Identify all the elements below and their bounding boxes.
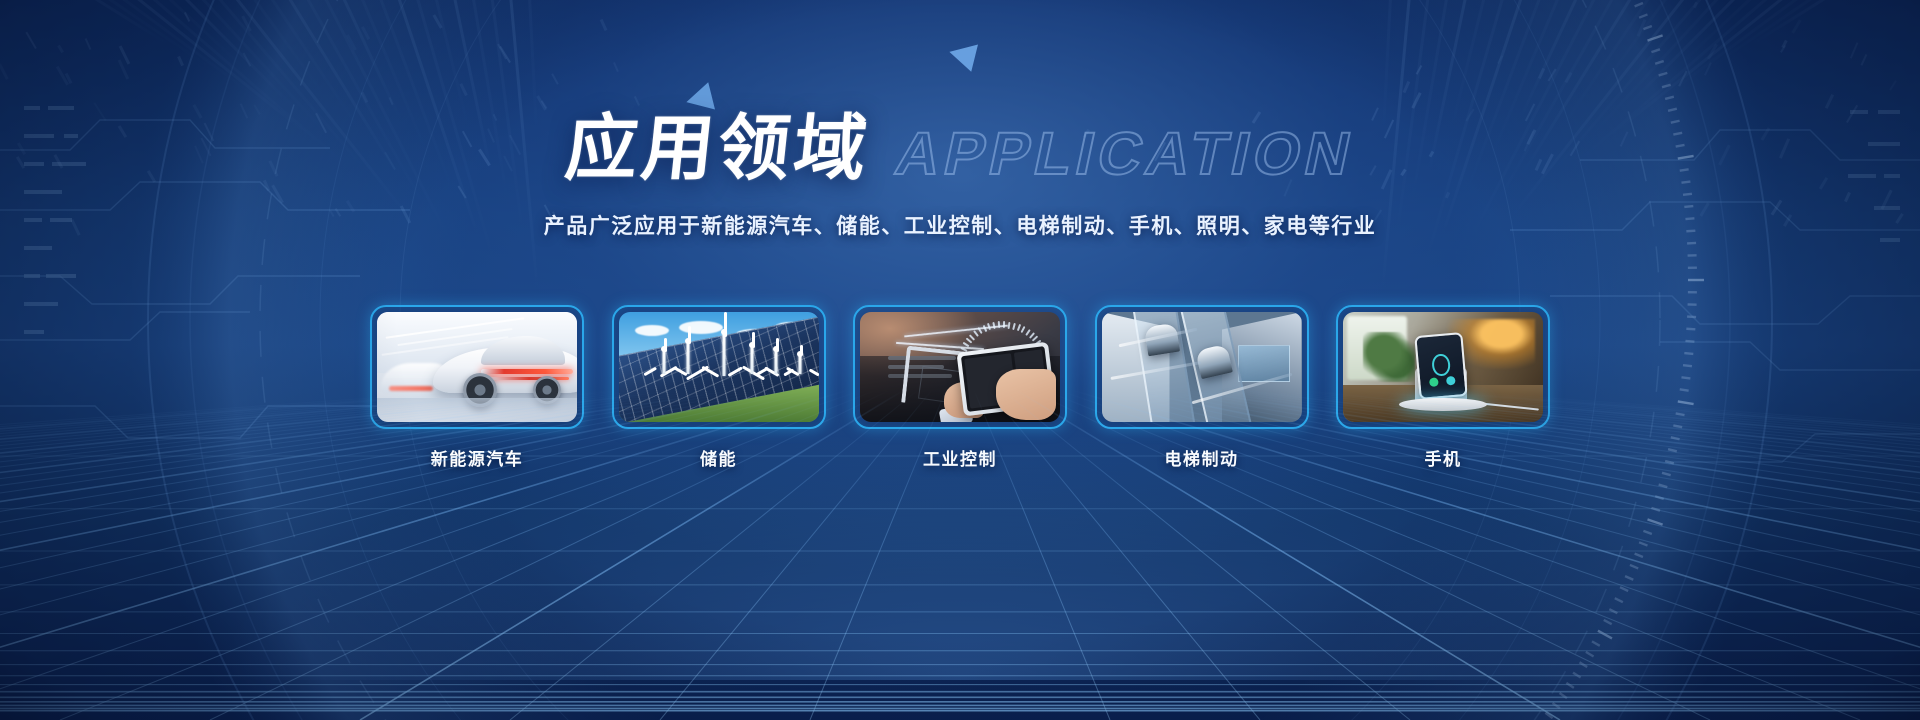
vignette-overlay <box>0 0 1920 720</box>
application-banner: 应用领域 APPLICATION 产品广泛应用于新能源汽车、储能、工业控制、电梯… <box>0 0 1920 720</box>
